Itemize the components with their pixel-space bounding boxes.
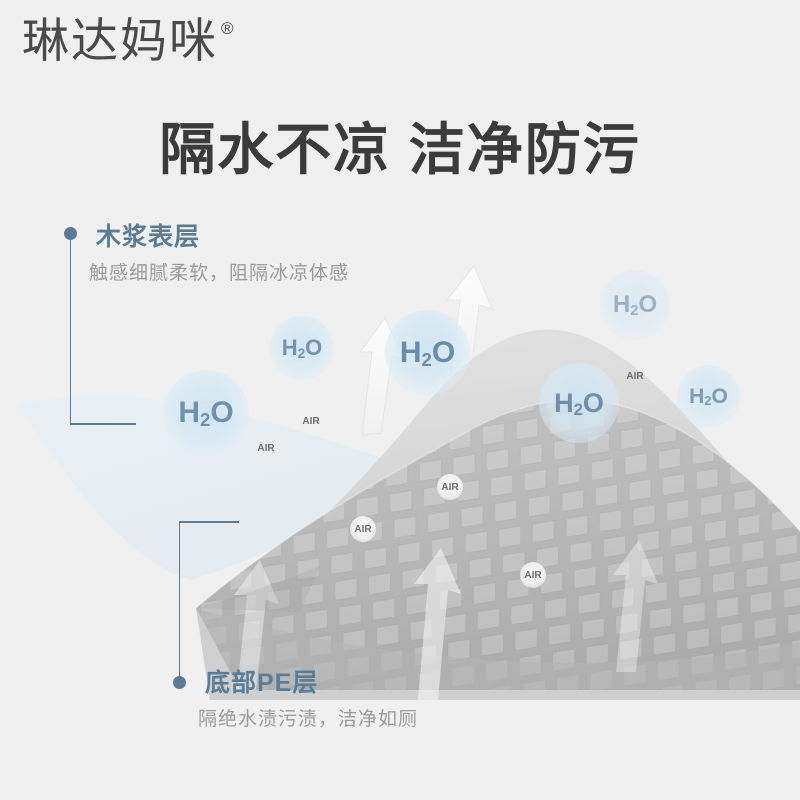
water-bubble: H2O xyxy=(270,316,334,380)
water-bubble-label: H2O xyxy=(178,396,233,430)
water-bubble-label: H2O xyxy=(400,336,455,370)
water-bubble-label: H2O xyxy=(554,388,604,419)
water-bubble-label: H2O xyxy=(689,385,728,409)
air-label: AIR xyxy=(622,363,648,389)
air-label: AIR xyxy=(253,435,279,461)
callout-title-wood-pulp: 木浆表层 xyxy=(96,224,349,252)
water-bubble: H2O xyxy=(600,270,670,340)
air-label: AIR xyxy=(520,562,546,588)
product-infographic: H2OH2OH2OH2OH2OH2O AIRAIRAIRAIRAIRAIR 琳达… xyxy=(0,0,800,800)
water-bubble: H2O xyxy=(539,363,619,443)
callout-pe-bottom-layer: 底部PE层 隔绝水渍污渍，洁净如厕 xyxy=(205,670,418,730)
callout-description-pe: 隔绝水渍污渍，洁净如厕 xyxy=(198,710,418,731)
trademark-icon: ® xyxy=(221,20,234,37)
water-bubble: H2O xyxy=(677,365,740,428)
water-bubble-label: H2O xyxy=(613,291,657,319)
callout-title-pe: 底部PE层 xyxy=(205,670,418,698)
air-label: AIR xyxy=(350,516,376,542)
brand-logo: 琳达妈咪 ® xyxy=(22,18,234,65)
water-bubble: H2O xyxy=(385,310,470,395)
water-bubble: H2O xyxy=(163,370,249,456)
callout-wood-pulp-layer: 木浆表层 触感细腻柔软，阻隔冰凉体感 xyxy=(96,224,349,284)
water-bubble-label: H2O xyxy=(282,335,323,361)
page-headline: 隔水不凉 洁净防污 xyxy=(0,118,800,182)
air-label: AIR xyxy=(298,408,324,434)
air-label: AIR xyxy=(437,474,463,500)
brand-name: 琳达妈咪 xyxy=(22,18,218,65)
callout-description-wood-pulp: 触感细腻柔软，阻隔冰凉体感 xyxy=(89,264,349,285)
